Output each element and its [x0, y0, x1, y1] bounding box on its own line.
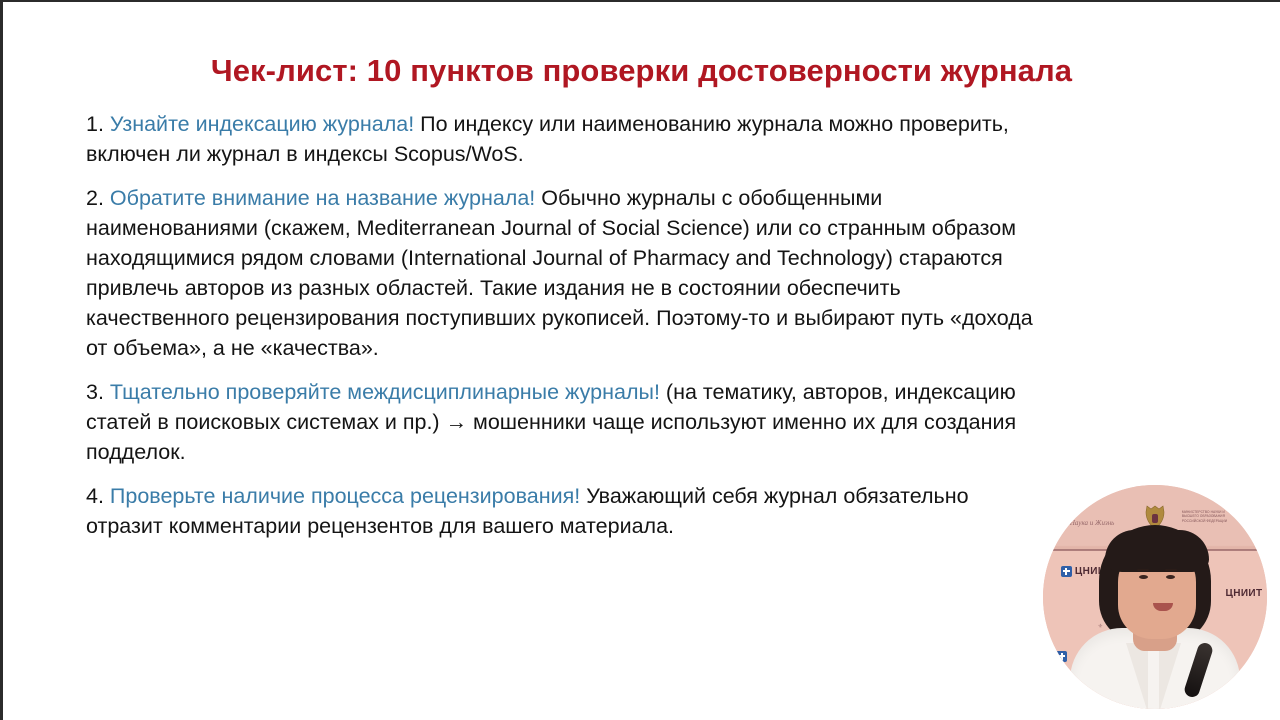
- item-number: 1.: [86, 112, 104, 136]
- hair-fringe: [1105, 530, 1209, 572]
- item-heading: Обратите внимание на название журнала!: [110, 186, 535, 210]
- mouth: [1153, 603, 1173, 611]
- eye-left: [1139, 575, 1148, 579]
- list-item: 4. Проверьте наличие процесса рецензиров…: [86, 481, 1041, 541]
- item-number: 4.: [86, 484, 104, 508]
- coat-collar-right: [1159, 643, 1181, 709]
- item-text: Обычно журналы с обобщенными наименовани…: [86, 186, 1033, 360]
- list-item: 1. Узнайте индексацию журнала! По индекс…: [86, 109, 1041, 169]
- presentation-slide: Чек-лист: 10 пунктов проверки достоверно…: [0, 0, 1280, 720]
- list-item: 2. Обратите внимание на название журнала…: [86, 183, 1041, 363]
- item-heading: Узнайте индексацию журнала!: [110, 112, 414, 136]
- list-item: 3. Тщательно проверяйте междисциплинарны…: [86, 377, 1041, 467]
- item-heading: Проверьте наличие процесса рецензировани…: [110, 484, 580, 508]
- page-title: Чек-лист: 10 пунктов проверки достоверно…: [3, 53, 1280, 89]
- item-number: 2.: [86, 186, 104, 210]
- eyebrow-right: [1165, 569, 1177, 571]
- item-heading: Тщательно проверяйте междисциплинарные ж…: [110, 380, 660, 404]
- checklist-body: 1. Узнайте индексацию журнала! По индекс…: [86, 109, 1041, 541]
- item-number: 3.: [86, 380, 104, 404]
- eye-right: [1166, 575, 1175, 579]
- speaker-figure: [1043, 485, 1267, 709]
- coat-collar-left: [1126, 643, 1148, 709]
- speaker-webcam-bubble[interactable]: МИНИСТЕРСТВО НАУКИ И ВЫСШЕГО ОБРАЗОВАНИЯ…: [1043, 485, 1267, 709]
- eyebrow-left: [1137, 569, 1149, 571]
